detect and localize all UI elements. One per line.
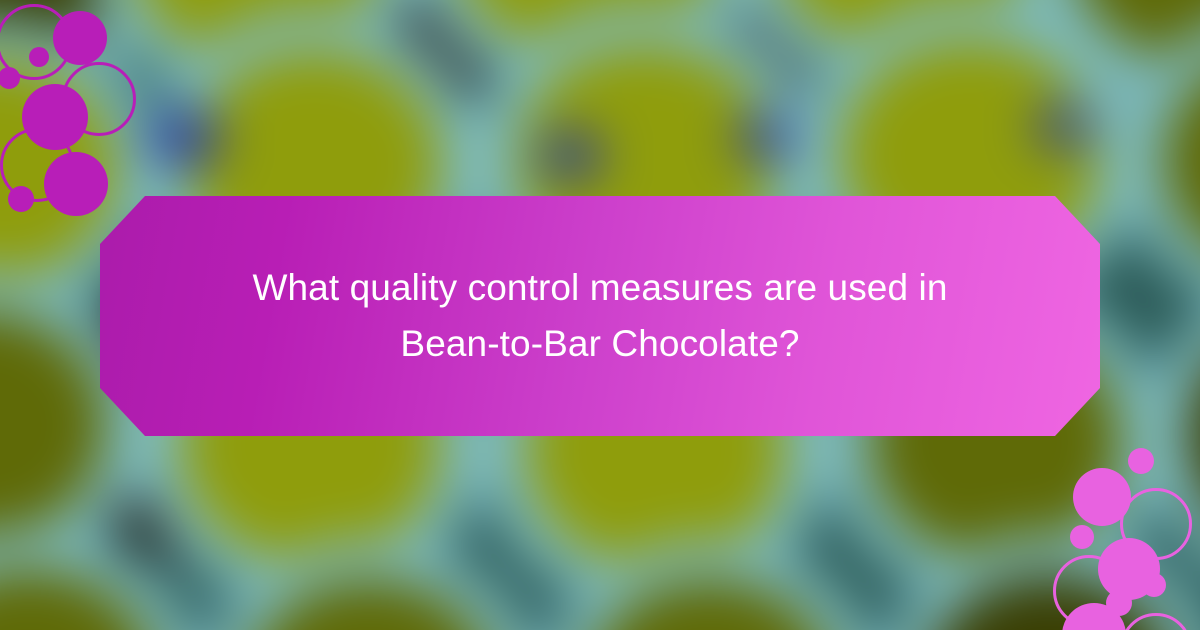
page-title: What quality control measures are used i… xyxy=(180,260,1020,372)
deco-dot xyxy=(29,47,49,67)
circle-cluster-top-left xyxy=(0,4,196,219)
deco-dot xyxy=(1142,573,1166,597)
deco-dot xyxy=(64,114,86,136)
question-banner: What quality control measures are used i… xyxy=(100,196,1100,436)
question-card-canvas: What quality control measures are used i… xyxy=(0,0,1200,630)
circle-cluster-bottom-right xyxy=(1010,440,1200,630)
deco-dot xyxy=(44,152,108,216)
deco-ring xyxy=(1120,613,1192,630)
deco-dot xyxy=(1070,525,1094,549)
deco-dot xyxy=(53,11,107,65)
deco-dot xyxy=(8,186,34,212)
deco-dot xyxy=(1128,448,1154,474)
deco-dot xyxy=(0,67,20,89)
